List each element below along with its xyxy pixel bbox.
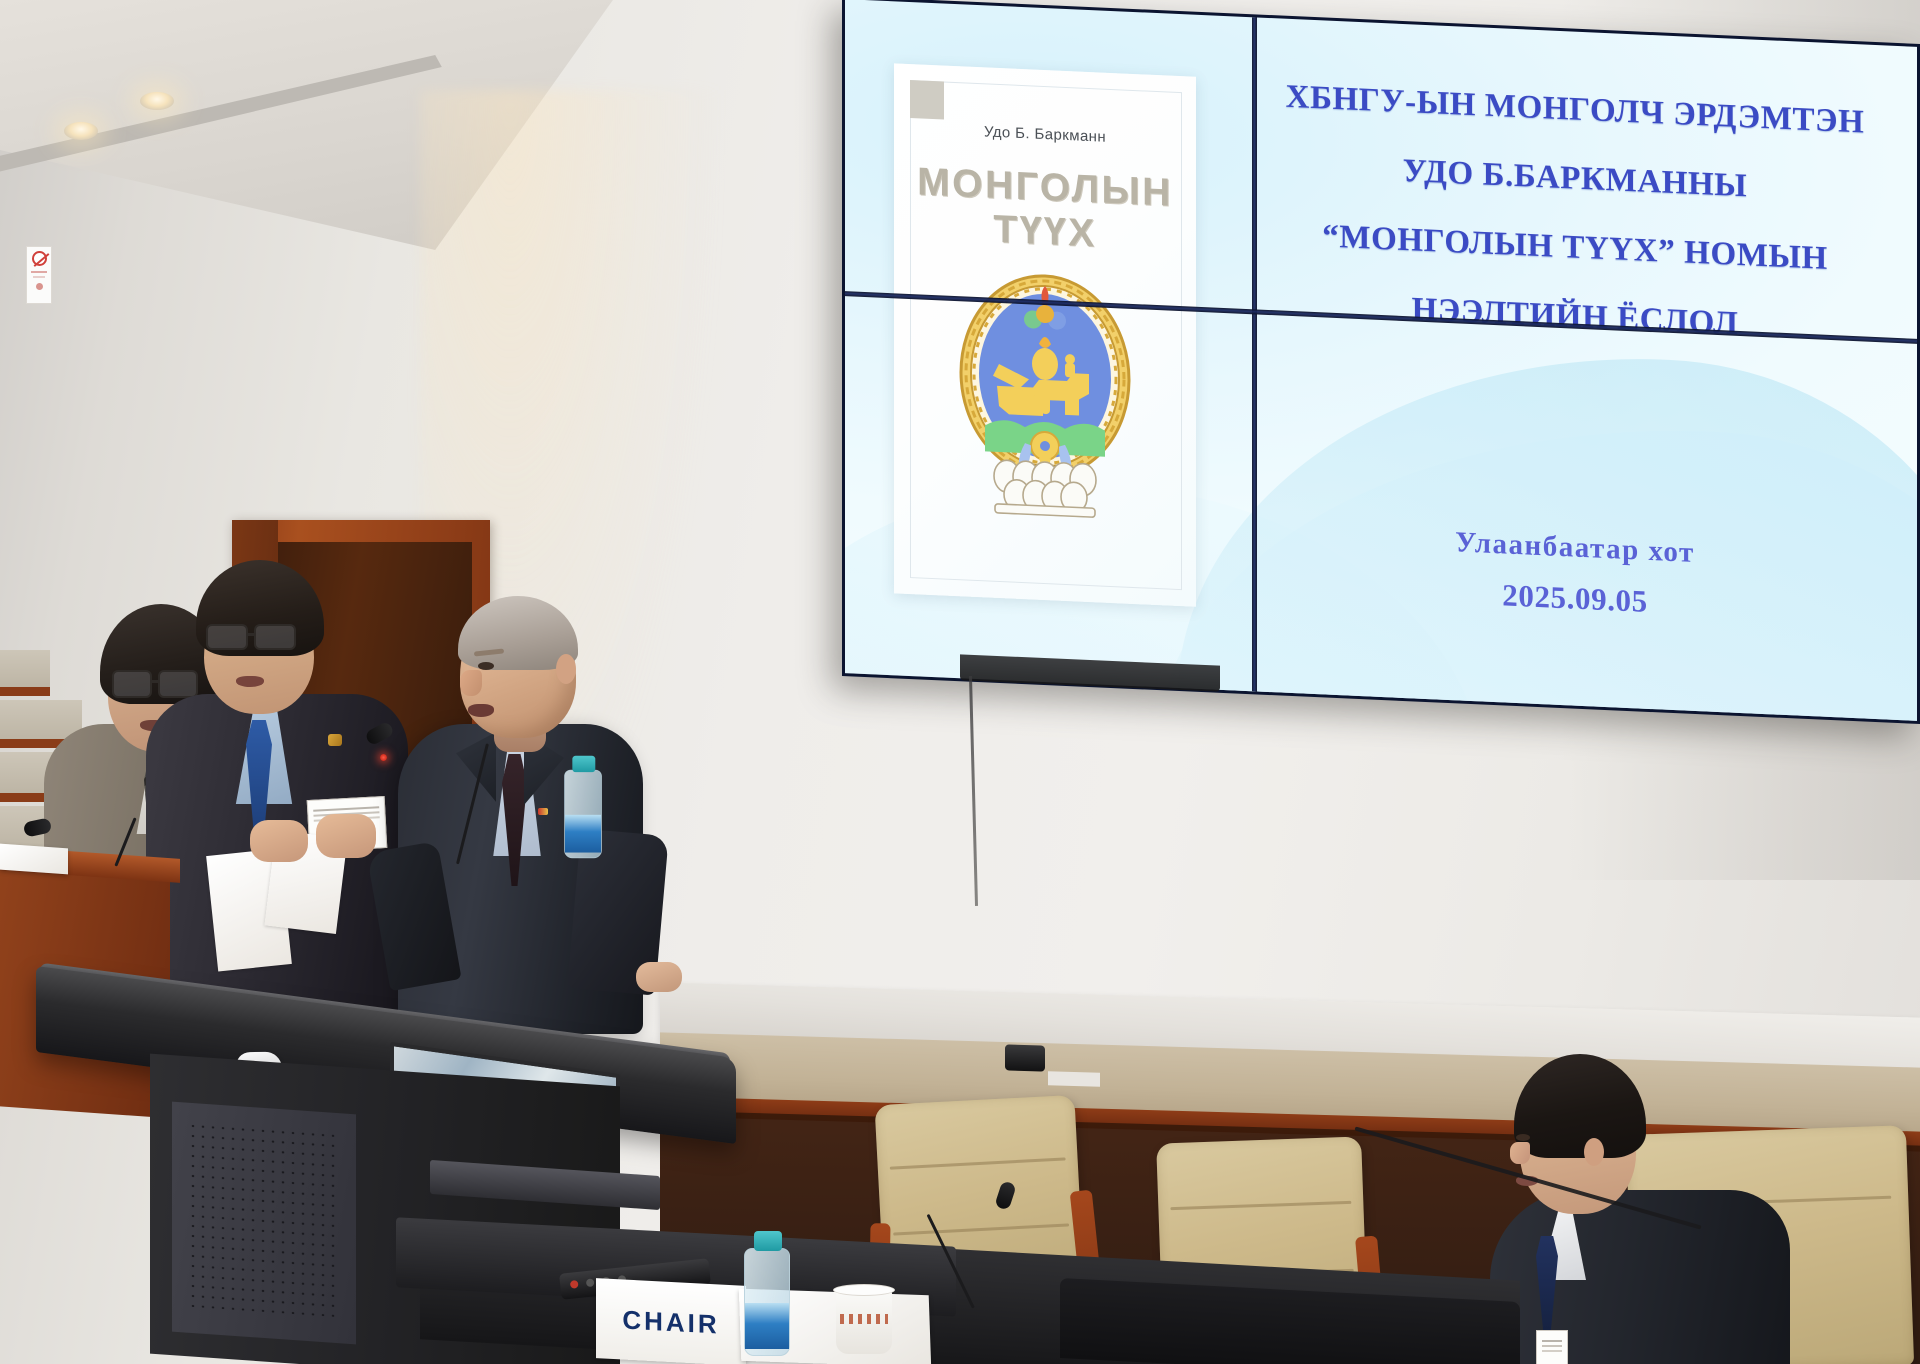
seated-attendee-torso — [1490, 1190, 1790, 1364]
bottle-cap — [754, 1231, 782, 1251]
eyeglasses-bridge — [246, 633, 256, 636]
eyeglasses-icon — [254, 624, 296, 650]
seated-attendee-badge — [1536, 1330, 1568, 1364]
cup-pattern — [840, 1314, 888, 1324]
chair-nameplate: CHAIR — [596, 1278, 746, 1364]
no-smoking-icon — [32, 251, 47, 266]
mic-status-led — [380, 754, 387, 761]
bottle-label — [745, 1303, 789, 1349]
lectern-microphone[interactable] — [28, 812, 148, 868]
seated-attendee-nose — [1510, 1142, 1530, 1164]
no-smoking-sign — [26, 246, 52, 304]
cup-rim — [833, 1284, 895, 1296]
recessed-downlight-icon — [64, 122, 98, 140]
lapel-pin-icon — [538, 808, 548, 815]
slide-line-3: “МОНГОЛЫН ТҮҮХ” НОМЫН — [1265, 216, 1885, 281]
attendee-badge-mouth — [236, 676, 264, 687]
ledge-white-plate — [1048, 1071, 1100, 1086]
book-cover-corner-block — [910, 80, 944, 120]
mic-head — [23, 817, 53, 837]
speaker-hand-right — [636, 962, 682, 992]
seated-attendee-eye — [1516, 1134, 1530, 1141]
conference-hall-photo: Удо Б. Баркманн МОНГОЛЫН ТҮҮХ — [0, 0, 1920, 1364]
recessed-downlight-icon — [140, 92, 174, 110]
desk-microphone[interactable] — [962, 1188, 1082, 1308]
slide-line-1: ХБНГУ-ЫН МОНГОЛЧ ЭРДЭМТЭН — [1265, 78, 1885, 143]
presentation-video-wall[interactable]: Удо Б. Баркманн МОНГОЛЫН ТҮҮХ — [842, 0, 1920, 724]
eyeglasses-icon — [206, 624, 248, 650]
ledge-black-device[interactable] — [1005, 1044, 1045, 1071]
slide-line-2: УДО Б.БАРКМАННЫ — [1265, 147, 1885, 212]
speaker-eye — [478, 662, 494, 670]
book-title-text: МОНГОЛЫН ТҮҮХ — [894, 159, 1196, 260]
sign-line — [31, 271, 47, 273]
speaker-ear — [556, 654, 576, 684]
paper-cup[interactable] — [836, 1288, 892, 1354]
speaker-mouth — [468, 704, 494, 717]
seated-attendee-right — [1480, 1030, 1810, 1364]
mic-head — [364, 721, 395, 747]
slide-surface: Удо Б. Баркманн МОНГОЛЫН ТҮҮХ — [845, 0, 1917, 721]
bottle-cap — [572, 756, 595, 772]
chair-nameplate-text: CHAIR — [622, 1304, 719, 1340]
speaker-nose — [460, 670, 482, 696]
mic-stem — [114, 817, 136, 866]
bottle-label — [565, 815, 601, 853]
book-cover-image: Удо Б. Баркманн МОНГОЛЫН ТҮҮХ — [894, 63, 1196, 606]
sign-line — [33, 276, 45, 278]
water-bottle-on-ledge[interactable] — [564, 770, 602, 859]
videowall-vertical-seam — [1252, 17, 1257, 691]
sign-dot — [36, 283, 43, 290]
seated-attendee-ear — [1584, 1138, 1604, 1166]
seated-attendee-hair — [1514, 1054, 1646, 1158]
podium-microphone[interactable] — [336, 724, 476, 864]
attendee-badge-hand — [250, 820, 308, 862]
podium-vent-panel — [172, 1102, 356, 1345]
water-bottle-on-desk[interactable] — [744, 1248, 790, 1356]
